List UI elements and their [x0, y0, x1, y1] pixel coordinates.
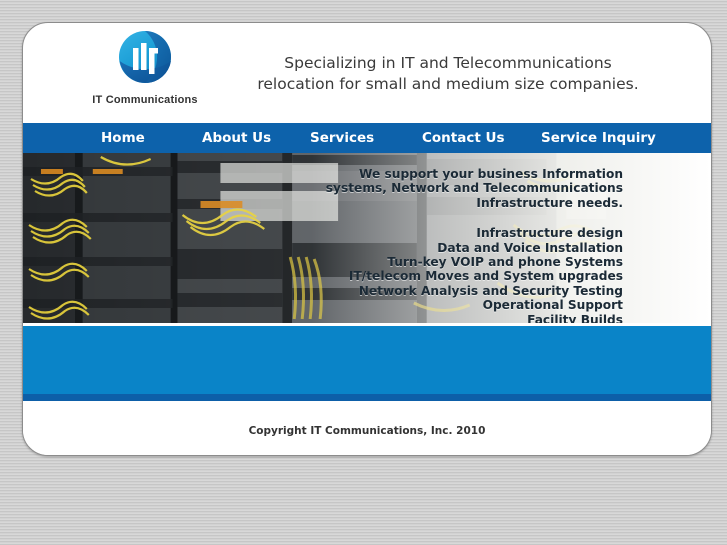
site-footer: Copyright IT Communications, Inc. 2010: [23, 401, 711, 456]
hero-intro-line-2: systems, Network and Telecommunications: [323, 181, 623, 195]
nav-item-contact-us[interactable]: Contact Us: [422, 130, 541, 146]
nav-item-services[interactable]: Services: [310, 130, 422, 146]
hero-overlay-text: We support your business Information sys…: [323, 167, 623, 323]
site-header: IT Communications Specializing in IT and…: [23, 23, 711, 123]
hero-intro-line-1: We support your business Information: [323, 167, 623, 181]
it-communications-logo-icon: [116, 30, 174, 88]
service-item-operational-support: Operational Support: [323, 298, 623, 312]
tagline-line-2: relocation for small and medium size com…: [228, 74, 668, 95]
hero-services-list: Infrastructure design Data and Voice Ins…: [323, 226, 623, 323]
nav-item-about-us[interactable]: About Us: [202, 130, 310, 146]
logo-block[interactable]: IT Communications: [80, 30, 210, 106]
blue-content-band: [23, 326, 711, 394]
nav-item-service-inquiry[interactable]: Service Inquiry: [541, 130, 656, 146]
service-item-data-voice-installation: Data and Voice Installation: [323, 241, 623, 255]
nav-item-home[interactable]: Home: [101, 130, 202, 146]
tagline-line-1: Specializing in IT and Telecommunication…: [228, 53, 668, 74]
service-item-moves-upgrades: IT/telecom Moves and System upgrades: [323, 269, 623, 283]
blue-divider-rule: [23, 394, 711, 401]
footer-copyright: Copyright IT Communications, Inc. 2010: [23, 425, 711, 437]
service-item-network-security: Network Analysis and Security Testing: [323, 284, 623, 298]
service-item-voip-phone-systems: Turn-key VOIP and phone Systems: [323, 255, 623, 269]
service-item-facility-builds: Facility Builds: [323, 313, 623, 323]
service-item-infrastructure-design: Infrastructure design: [323, 226, 623, 240]
page-card: IT Communications Specializing in IT and…: [22, 22, 712, 456]
main-navigation: Home About Us Services Contact Us Servic…: [23, 123, 711, 153]
hero-intro-line-3: Infrastructure needs.: [323, 196, 623, 210]
header-tagline: Specializing in IT and Telecommunication…: [228, 53, 668, 95]
hero-section: We support your business Information sys…: [23, 153, 711, 323]
logo-wordmark: IT Communications: [80, 94, 210, 106]
